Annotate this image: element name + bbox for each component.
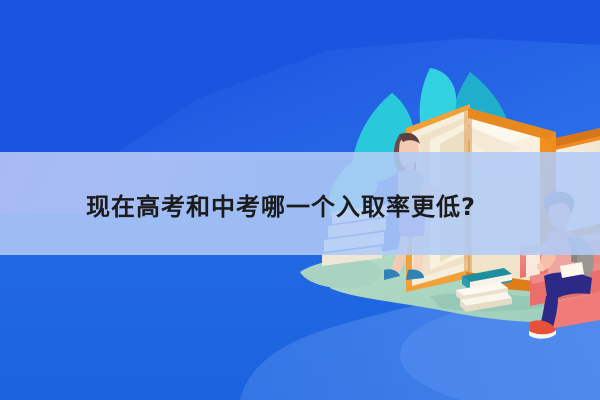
page-title: 现在高考和中考哪一个入取率更低?	[86, 190, 516, 224]
banner-image: 现在高考和中考哪一个入取率更低?	[0, 0, 600, 400]
